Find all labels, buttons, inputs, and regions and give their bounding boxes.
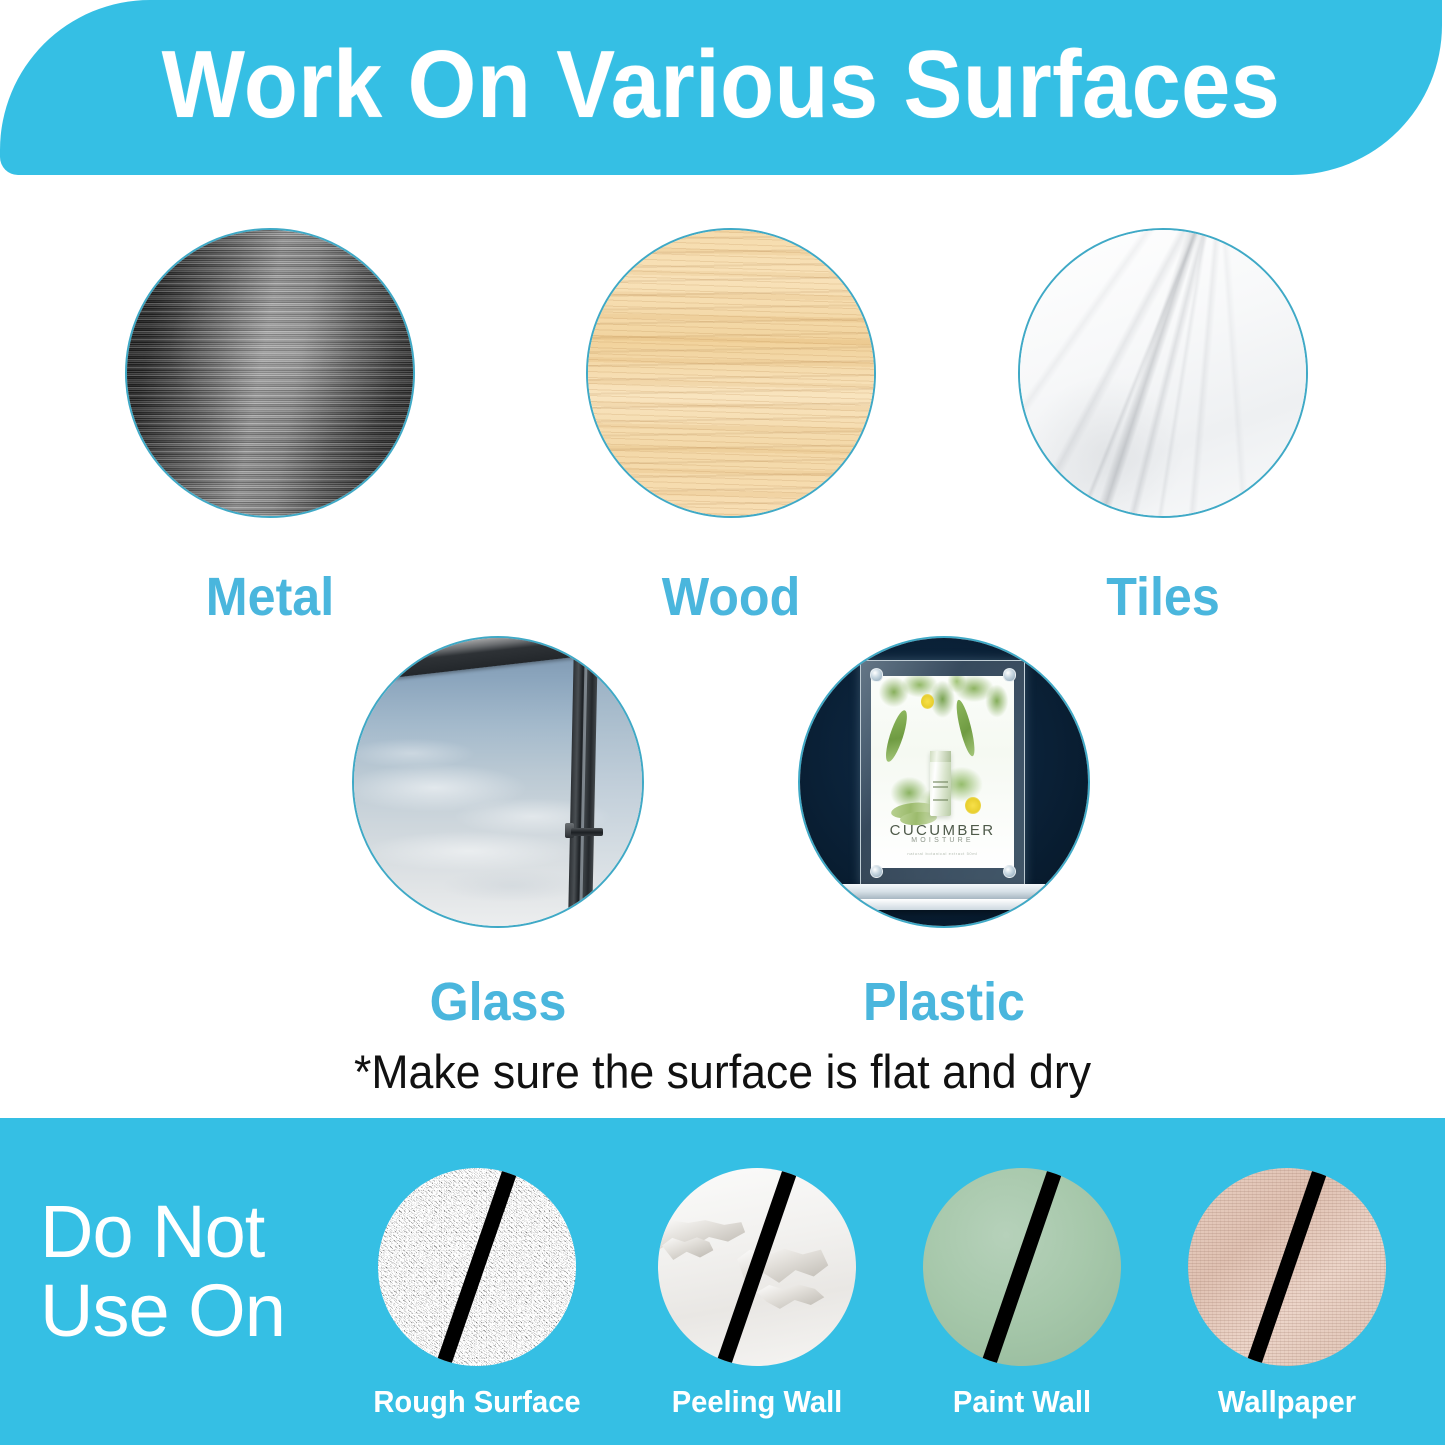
surface-circle-plastic: CUCUMBER MOISTURE natural botanical extr…: [798, 636, 1090, 928]
surface-disclaimer: *Make sure the surface is flat and dry: [36, 1048, 1409, 1095]
holder-screw-top-right: [1003, 668, 1016, 681]
paint-flake-3: [757, 1283, 824, 1311]
holder-screw-top-left: [870, 668, 883, 681]
poster-artwork: CUCUMBER MOISTURE natural botanical extr…: [871, 676, 1014, 868]
do-not-use-circle-peeling-wall: [658, 1168, 856, 1366]
surface-circle-wood: [586, 228, 876, 518]
surface-label-wood: Wood: [601, 570, 861, 624]
do-not-use-label-wallpaper: Wallpaper: [1147, 1386, 1427, 1417]
do-not-use-circle-wallpaper: [1188, 1168, 1386, 1366]
do-not-use-heading-line1: Do Not: [40, 1192, 285, 1271]
do-not-use-heading-line2: Use On: [40, 1271, 285, 1350]
wood-texture: [588, 230, 874, 516]
acrylic-holder-base-front: [840, 899, 1044, 910]
window-handle: [571, 828, 603, 835]
do-not-use-circle-rough-surface: [378, 1168, 576, 1366]
metal-texture: [127, 230, 413, 516]
surface-label-plastic: Plastic: [814, 975, 1074, 1029]
do-not-use-label-rough-surface: Rough Surface: [337, 1386, 617, 1417]
infographic-page: Work On Various Surfaces Metal Wood Tile…: [0, 0, 1445, 1445]
poster-subtitle: MOISTURE: [871, 837, 1014, 844]
poster-bottle-label-line-3: [933, 799, 948, 801]
poster-bottle-label-line-1: [933, 781, 948, 783]
glass-cloud-reflection: [354, 638, 642, 926]
do-not-use-heading: Do Not Use On: [40, 1192, 285, 1350]
holder-screw-bottom-right: [1003, 865, 1016, 878]
poster-fine-print: natural botanical extract 50ml: [871, 851, 1014, 856]
surface-circle-tiles: [1018, 228, 1308, 518]
page-title: Work On Various Surfaces: [162, 37, 1281, 139]
acrylic-sign-holder: CUCUMBER MOISTURE natural botanical extr…: [860, 660, 1024, 888]
plastic-texture: CUCUMBER MOISTURE natural botanical extr…: [800, 638, 1088, 926]
surface-label-tiles: Tiles: [1033, 570, 1293, 624]
do-not-use-label-paint-wall: Paint Wall: [882, 1386, 1162, 1417]
header-banner: Work On Various Surfaces: [0, 0, 1442, 175]
marble-texture: [1020, 230, 1306, 516]
surface-label-glass: Glass: [368, 975, 628, 1029]
poster-flower-top: [921, 694, 934, 709]
acrylic-holder-base: [840, 884, 1044, 910]
do-not-use-label-peeling-wall: Peeling Wall: [617, 1386, 897, 1417]
poster-bottle-cap: [930, 751, 951, 761]
surface-circle-metal: [125, 228, 415, 518]
glass-texture: [354, 638, 642, 926]
poster-product-bottle: [930, 751, 951, 816]
holder-screw-bottom-left: [870, 865, 883, 878]
do-not-use-circle-paint-wall: [923, 1168, 1121, 1366]
surface-label-metal: Metal: [140, 570, 400, 624]
surface-circle-glass: [352, 636, 644, 928]
poster-bottle-label-line-2: [933, 786, 948, 788]
